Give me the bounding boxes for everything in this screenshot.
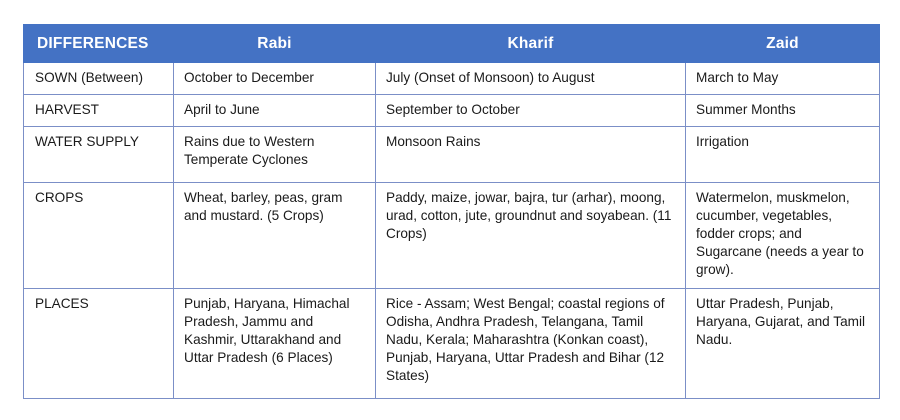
cell-sown-zaid: March to May [686,63,880,95]
cell-harvest-rabi: April to June [174,94,376,126]
row-label-water-supply: WATER SUPPLY [24,126,174,182]
cell-places-rabi: Punjab, Haryana, Himachal Pradesh, Jammu… [174,288,376,398]
cropping-seasons-table: DIFFERENCES Rabi Kharif Zaid SOWN (Betwe… [23,24,880,399]
cell-crops-kharif: Paddy, maize, jowar, bajra, tur (arhar),… [376,182,686,288]
cell-water-rabi: Rains due to Western Temperate Cyclones [174,126,376,182]
table-row: HARVEST April to June September to Octob… [24,94,880,126]
table-header: DIFFERENCES Rabi Kharif Zaid [24,25,880,63]
cell-harvest-kharif: September to October [376,94,686,126]
cell-sown-kharif: July (Onset of Monsoon) to August [376,63,686,95]
cell-water-zaid: Irrigation [686,126,880,182]
cropping-seasons-table-container: DIFFERENCES Rabi Kharif Zaid SOWN (Betwe… [23,24,879,399]
table-header-row: DIFFERENCES Rabi Kharif Zaid [24,25,880,63]
table-row: PLACES Punjab, Haryana, Himachal Pradesh… [24,288,880,398]
row-label-sown: SOWN (Between) [24,63,174,95]
column-header-kharif: Kharif [376,25,686,63]
row-label-places: PLACES [24,288,174,398]
cell-sown-rabi: October to December [174,63,376,95]
cell-crops-zaid: Watermelon, muskmelon, cucumber, vegetab… [686,182,880,288]
table-row: CROPS Wheat, barley, peas, gram and must… [24,182,880,288]
cell-harvest-zaid: Summer Months [686,94,880,126]
column-header-zaid: Zaid [686,25,880,63]
cell-water-kharif: Monsoon Rains [376,126,686,182]
cell-places-zaid: Uttar Pradesh, Punjab, Haryana, Gujarat,… [686,288,880,398]
column-header-rabi: Rabi [174,25,376,63]
cell-places-kharif: Rice - Assam; West Bengal; coastal regio… [376,288,686,398]
table-body: SOWN (Between) October to December July … [24,63,880,399]
table-row: SOWN (Between) October to December July … [24,63,880,95]
row-label-harvest: HARVEST [24,94,174,126]
table-row: WATER SUPPLY Rains due to Western Temper… [24,126,880,182]
cell-crops-rabi: Wheat, barley, peas, gram and mustard. (… [174,182,376,288]
row-label-crops: CROPS [24,182,174,288]
column-header-differences: DIFFERENCES [24,25,174,63]
